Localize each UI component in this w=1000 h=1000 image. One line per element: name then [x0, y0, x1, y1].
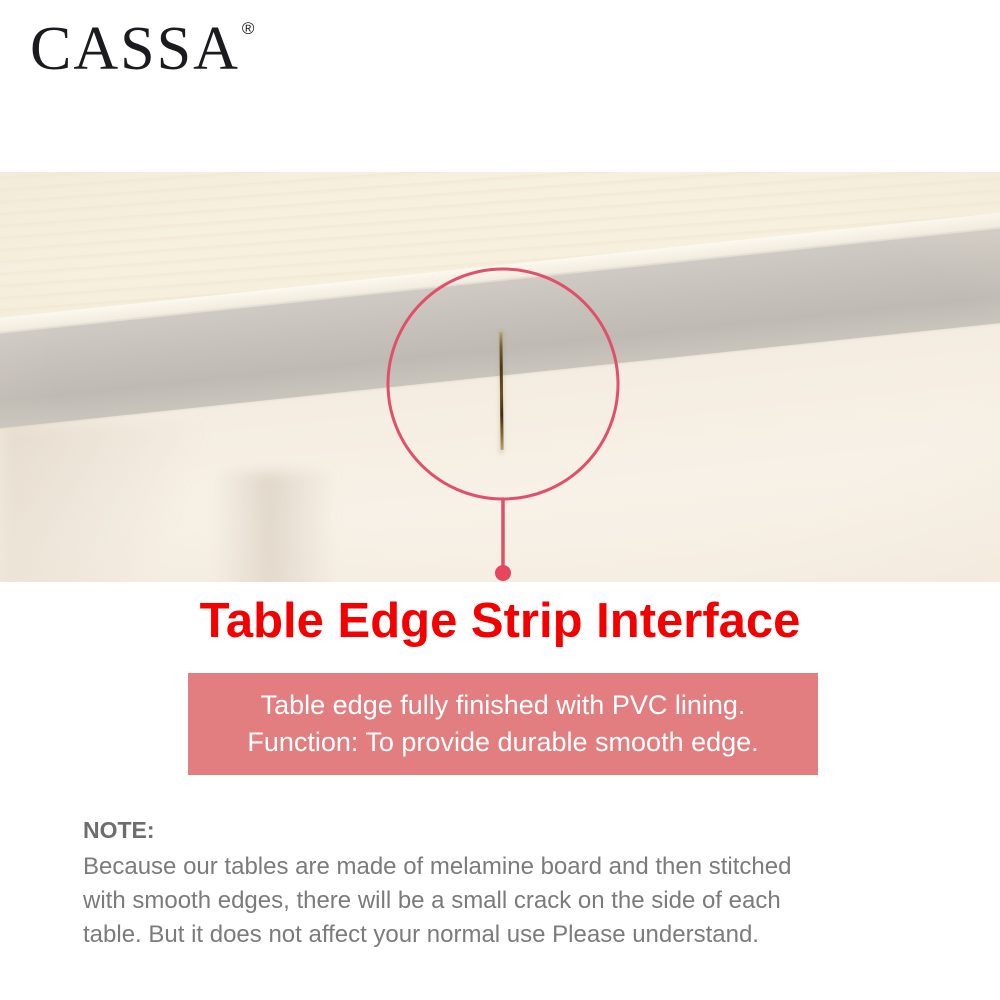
feature-banner: Table edge fully finished with PVC linin… [188, 673, 818, 775]
feature-line-2: Function: To provide durable smooth edge… [247, 724, 758, 761]
photo-background-shadow [215, 472, 335, 582]
note-block: NOTE: Because our tables are made of mel… [83, 813, 923, 952]
registered-trademark-icon: ® [242, 20, 255, 37]
note-body: Because our tables are made of melamine … [83, 850, 923, 952]
cassa-logo: CASSA® [30, 18, 254, 80]
note-body-line-3: table. But it does not affect your norma… [83, 918, 923, 952]
brand-header: CASSA® [0, 0, 1000, 172]
brand-wordmark: CASSA [30, 18, 240, 80]
note-body-line-2: with smooth edges, there will be a small… [83, 884, 923, 918]
product-info-page: CASSA® Table Edge Strip Interface Table … [0, 0, 1000, 1000]
photo-background-shadow-left [0, 422, 240, 582]
page-title: Table Edge Strip Interface [0, 596, 1000, 647]
feature-line-1: Table edge fully finished with PVC linin… [261, 687, 746, 724]
product-photo [0, 172, 1000, 582]
note-body-line-1: Because our tables are made of melamine … [83, 850, 923, 884]
note-heading: NOTE: [83, 813, 923, 848]
